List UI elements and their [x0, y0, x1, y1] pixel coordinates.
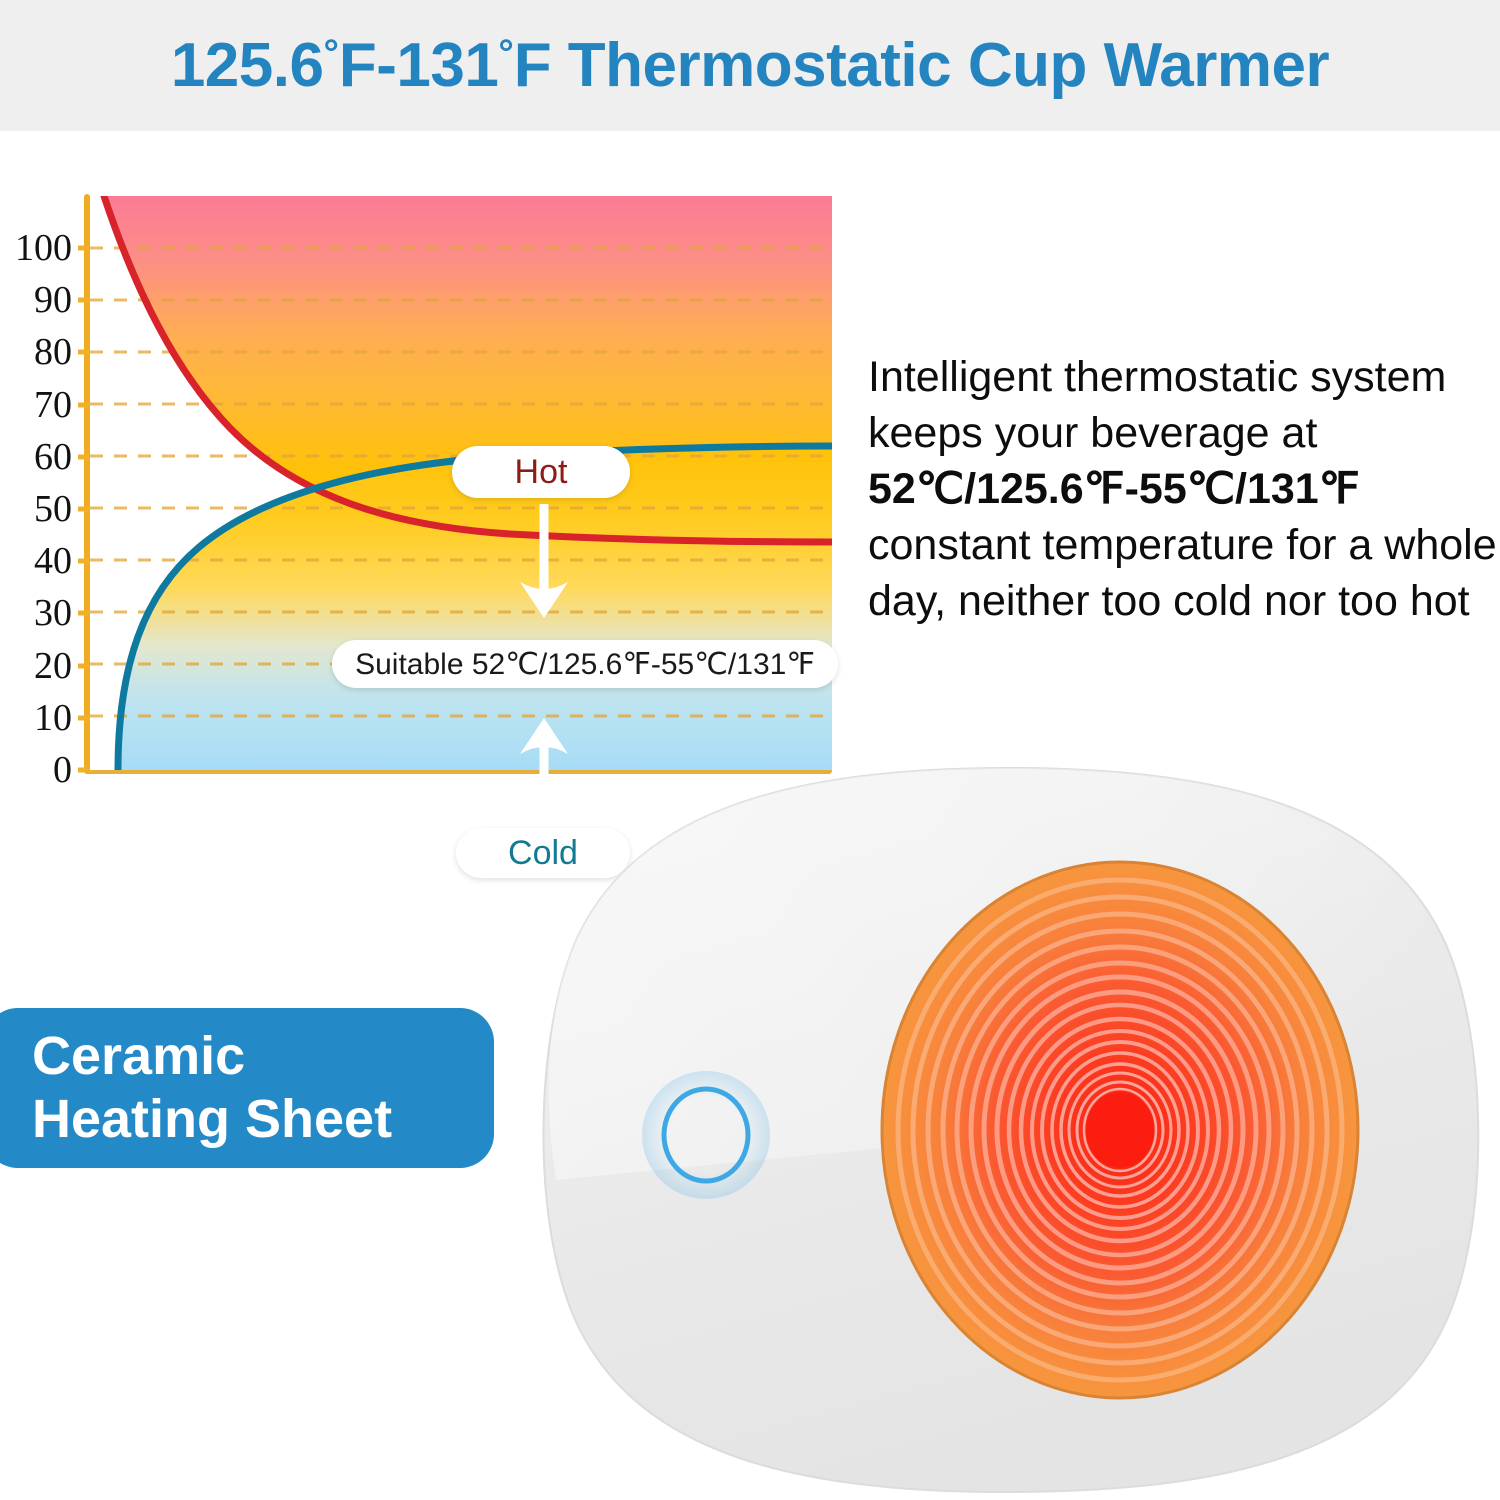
chart-y-tick-label: 100 [0, 229, 72, 267]
description-text: constant temperature for a whole day, ne… [868, 521, 1497, 625]
title-text: 125.6 [171, 31, 324, 100]
arrow-down-icon [512, 504, 576, 624]
chart-y-tick-label: 0 [0, 751, 72, 789]
chart-y-tick-label: 40 [0, 542, 72, 580]
degree-symbol: ° [498, 32, 513, 75]
ceramic-heating-sheet-badge: Ceramic Heating Sheet [0, 1008, 494, 1168]
chart-label-hot: Hot [452, 446, 630, 498]
heat-core [1086, 1092, 1154, 1168]
chart-y-tick-label: 80 [0, 333, 72, 371]
description-text: Intelligent thermostatic system keeps yo… [868, 353, 1446, 457]
cup-warmer-illustration [520, 760, 1500, 1500]
header-band: 125.6°F-131°F Thermostatic Cup Warmer [0, 0, 1500, 131]
thermostat-chart: 1009080706050403020100 [0, 178, 860, 788]
chart-y-tick-label: 20 [0, 647, 72, 685]
chart-y-tick-label: 30 [0, 594, 72, 632]
degree-symbol: ° [323, 32, 338, 75]
title-text: F-131 [339, 31, 498, 100]
chart-y-tick-label: 70 [0, 386, 72, 424]
description-paragraph: Intelligent thermostatic system keeps yo… [868, 350, 1500, 629]
chart-y-axis-labels: 1009080706050403020100 [0, 178, 72, 778]
badge-line-1: Ceramic [32, 1025, 494, 1088]
chart-y-tick-label: 90 [0, 281, 72, 319]
chart-y-tick-label: 10 [0, 699, 72, 737]
cup-warmer-device [520, 760, 1500, 1500]
title-text: F Thermostatic Cup Warmer [514, 31, 1329, 100]
chart-y-tick-label: 60 [0, 438, 72, 476]
description-emphasis: 52℃/125.6℉-55℃/131℉ [868, 465, 1360, 513]
page-title: 125.6°F-131°F Thermostatic Cup Warmer [171, 35, 1329, 97]
chart-y-tick-label: 50 [0, 490, 72, 528]
badge-line-2: Heating Sheet [32, 1088, 494, 1151]
chart-label-suitable: Suitable 52℃/125.6℉-55℃/131℉ [332, 640, 838, 688]
